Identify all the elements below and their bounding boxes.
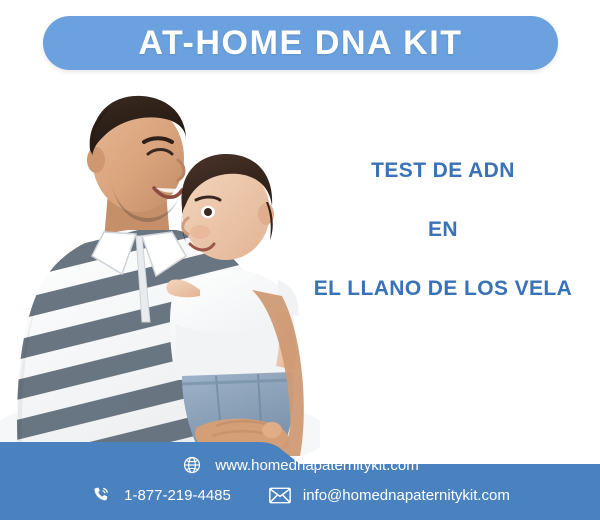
footer-contact-row: 1-877-219-4485 info@homednapaternitykit.… <box>0 484 600 506</box>
globe-icon <box>181 454 203 476</box>
family-photo-illustration <box>0 84 320 456</box>
family-photo <box>0 84 320 456</box>
header-title: AT-HOME DNA KIT <box>138 26 462 60</box>
headline-line-2: EN <box>286 219 600 240</box>
email-text: info@homednapaternitykit.com <box>303 488 510 503</box>
email-group[interactable]: info@homednapaternitykit.com <box>269 484 510 506</box>
website-text: www.homednapaternitykit.com <box>215 458 418 473</box>
footer-bar: www.homednapaternitykit.com 1-877-219-44… <box>0 430 600 520</box>
footer-website-row: www.homednapaternitykit.com <box>0 454 600 476</box>
promo-graphic: AT-HOME DNA KIT <box>0 0 600 520</box>
footer-content: www.homednapaternitykit.com 1-877-219-44… <box>0 430 600 520</box>
phone-icon <box>90 484 112 506</box>
phone-text: 1-877-219-4485 <box>124 488 231 503</box>
header-banner-pill: AT-HOME DNA KIT <box>43 16 558 70</box>
headline-line-3: EL LLANO DE LOS VELA <box>286 278 600 299</box>
envelope-icon <box>269 484 291 506</box>
website-group[interactable]: www.homednapaternitykit.com <box>181 454 418 476</box>
phone-group[interactable]: 1-877-219-4485 <box>90 484 231 506</box>
headline-block: TEST DE ADN EN EL LLANO DE LOS VELA <box>286 160 600 299</box>
headline-line-1: TEST DE ADN <box>286 160 600 181</box>
